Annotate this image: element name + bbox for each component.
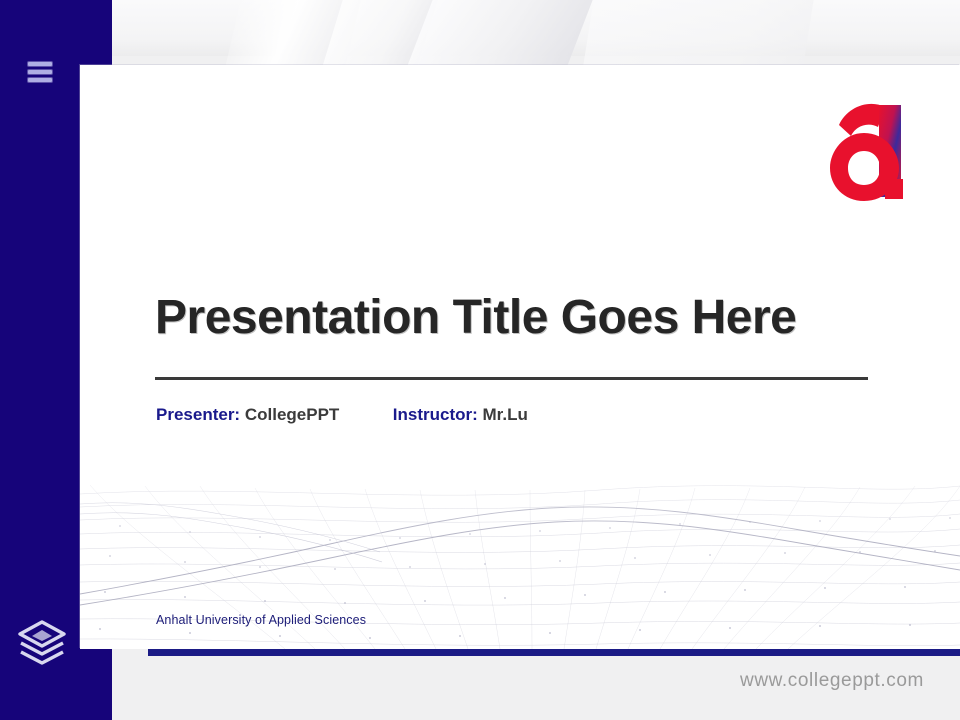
layers-stack-icon[interactable] [14,616,70,668]
title-underline-rule [155,377,868,380]
instructor-label: Instructor: [393,405,478,424]
presenter-label: Presenter: [156,405,240,424]
byline: Presenter: CollegePPT Instructor: Mr.Lu [156,405,528,425]
footer-url: www.collegeppt.com [740,670,924,692]
brand-logo-a [823,93,923,213]
page-title: Presentation Title Goes Here [155,293,875,343]
backdrop-top-strip [0,0,960,56]
affiliation-text: Anhalt University of Applied Sciences [156,613,366,627]
presenter-name: CollegePPT [245,405,339,424]
slide-canvas: Presentation Title Goes Here Presenter: … [0,0,960,720]
instructor-name: Mr.Lu [483,405,528,424]
navy-baseline-bar [148,649,960,656]
slide-card: Presentation Title Goes Here Presenter: … [80,65,960,649]
hamburger-bar-3 [28,78,52,82]
hamburger-bar-1 [28,62,52,66]
hamburger-menu-icon[interactable] [28,62,52,82]
hamburger-bar-2 [28,70,52,74]
